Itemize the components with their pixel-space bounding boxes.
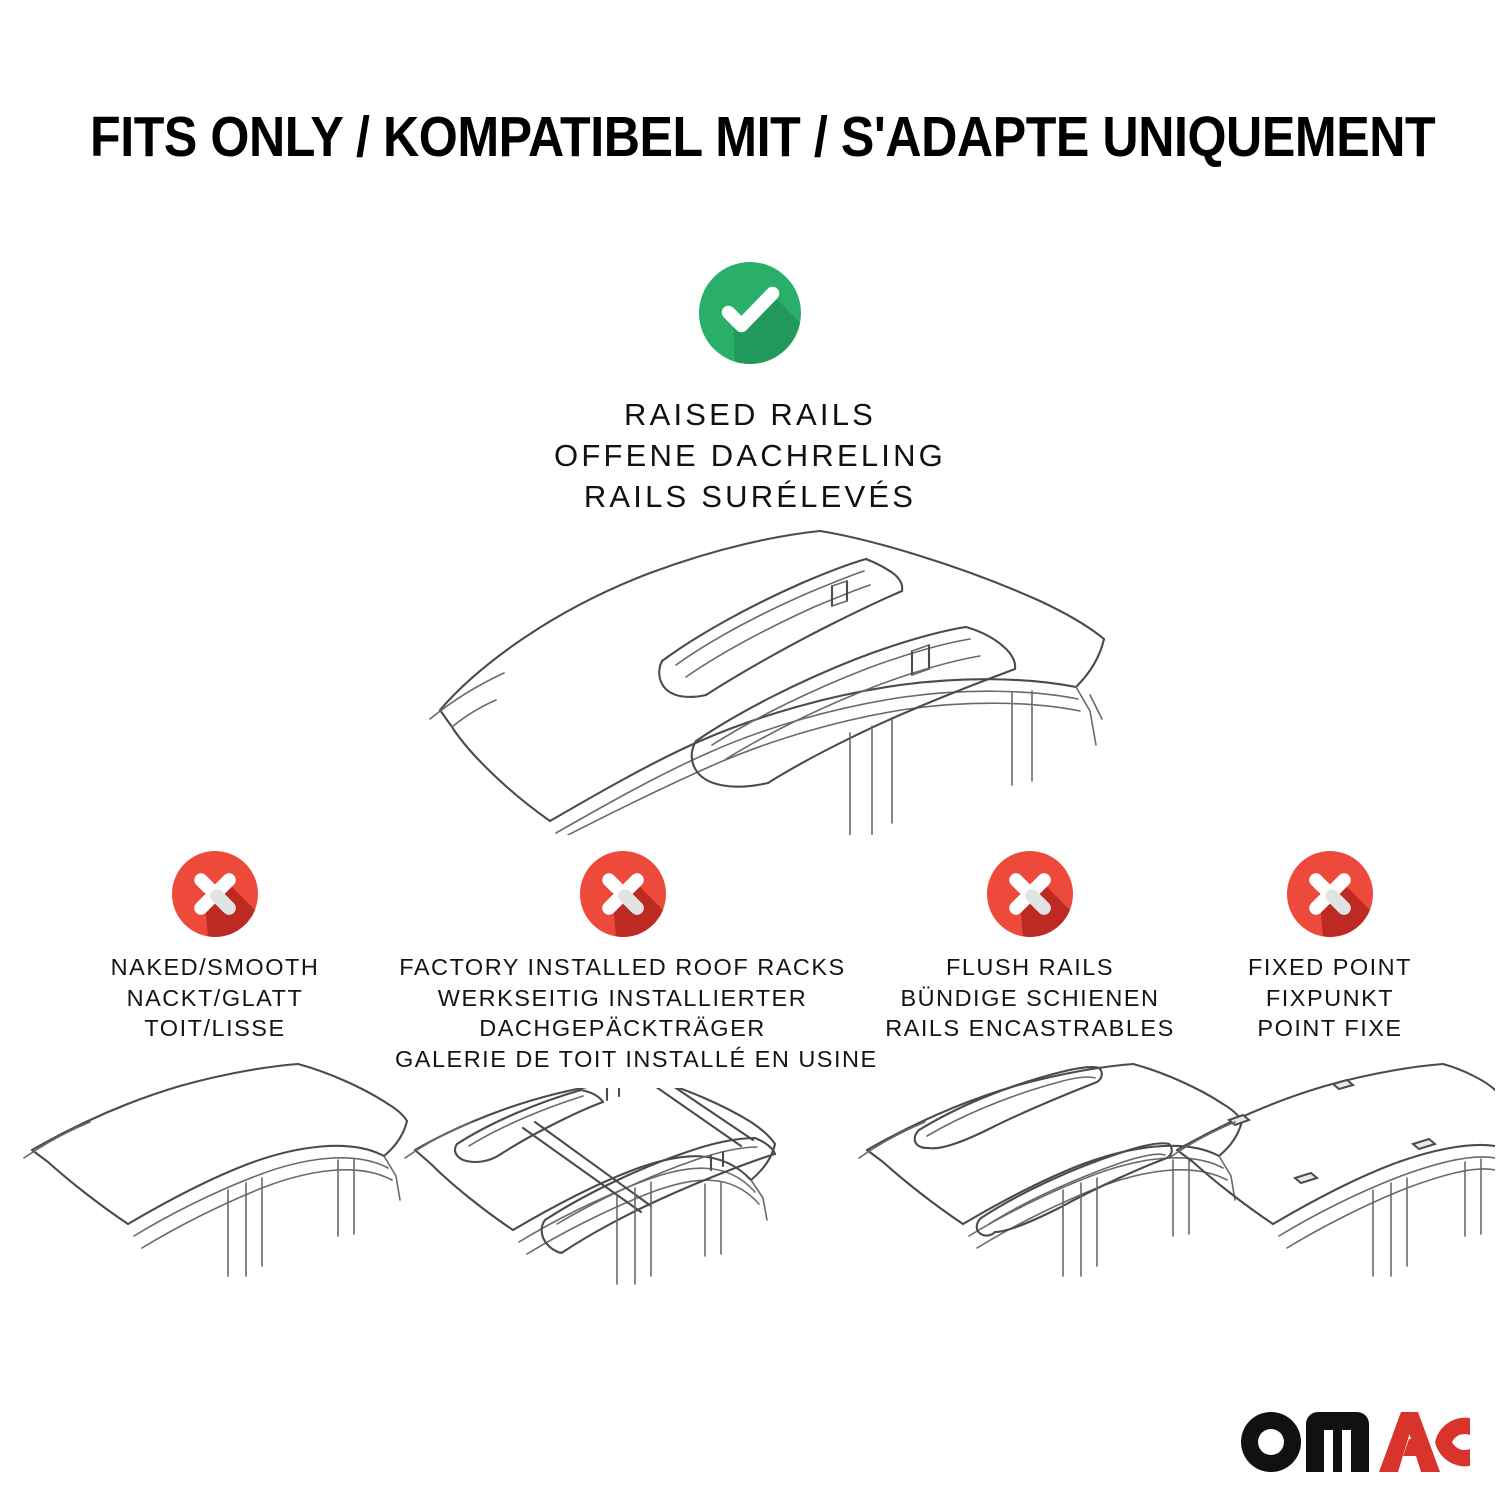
label-line-2: NACKT/GLATT xyxy=(20,983,410,1014)
label-line-2: FIXPUNKT xyxy=(1195,983,1465,1014)
compatible-label-en: RAISED RAILS xyxy=(0,395,1500,436)
car-roof-naked-smooth-diagram xyxy=(20,1058,410,1288)
label-line-2: WERKSEITIG INSTALLIERTER xyxy=(395,983,850,1014)
car-roof-flush-rails-diagram xyxy=(855,1058,1205,1288)
label-line-1: FACTORY INSTALLED ROOF RACKS xyxy=(395,952,850,983)
green-check-circle-icon xyxy=(695,258,805,368)
label-line-1: FIXED POINT xyxy=(1195,952,1465,983)
logo-letter-c xyxy=(1435,1418,1470,1467)
logo-letter-a xyxy=(1379,1412,1440,1472)
car-roof-raised-rails-diagram xyxy=(400,505,1120,835)
red-x-circle-icon xyxy=(984,848,1076,940)
compatible-labels: RAISED RAILS OFFENE DACHRELING RAILS SUR… xyxy=(0,395,1500,518)
label-line-1: FLUSH RAILS xyxy=(855,952,1205,983)
incompatible-labels: FLUSH RAILS BÜNDIGE SCHIENEN RAILS ENCAS… xyxy=(855,952,1205,1044)
label-line-3: TOIT/LISSE xyxy=(20,1013,410,1044)
red-x-circle-icon xyxy=(169,848,261,940)
red-x-circle-icon xyxy=(577,848,669,940)
page-title: FITS ONLY / KOMPATIBEL MIT / S'ADAPTE UN… xyxy=(90,104,1410,170)
incompatible-section: NAKED/SMOOTH NACKT/GLATT TOIT/LISSE xyxy=(0,848,1500,1328)
label-line-2: BÜNDIGE SCHIENEN xyxy=(855,983,1205,1014)
label-line-3: POINT FIXE xyxy=(1195,1013,1465,1044)
incompatible-labels: FIXED POINT FIXPUNKT POINT FIXE xyxy=(1195,952,1465,1044)
incompatible-labels: NAKED/SMOOTH NACKT/GLATT TOIT/LISSE xyxy=(20,952,410,1044)
label-line-1: NAKED/SMOOTH xyxy=(20,952,410,983)
red-x-circle-icon xyxy=(1284,848,1376,940)
car-roof-factory-racks-diagram xyxy=(395,1088,850,1288)
label-line-3: DACHGEPÄCKTRÄGER xyxy=(395,1013,850,1044)
omac-logo xyxy=(1238,1408,1470,1476)
incompatible-column-factory-racks: FACTORY INSTALLED ROOF RACKS WERKSEITIG … xyxy=(395,848,850,1288)
incompatible-labels: FACTORY INSTALLED ROOF RACKS WERKSEITIG … xyxy=(395,952,850,1074)
compatible-label-de: OFFENE DACHRELING xyxy=(0,436,1500,477)
incompatible-column-naked-smooth: NAKED/SMOOTH NACKT/GLATT TOIT/LISSE xyxy=(20,848,410,1288)
label-line-3: RAILS ENCASTRABLES xyxy=(855,1013,1205,1044)
car-roof-fixed-point-diagram xyxy=(1195,1058,1465,1288)
incompatible-column-fixed-point: FIXED POINT FIXPUNKT POINT FIXE xyxy=(1195,848,1465,1288)
incompatible-column-flush-rails: FLUSH RAILS BÜNDIGE SCHIENEN RAILS ENCAS… xyxy=(855,848,1205,1288)
logo-letter-m xyxy=(1306,1412,1369,1472)
logo-letter-o xyxy=(1241,1412,1301,1472)
label-line-4: GALERIE DE TOIT INSTALLÉ EN USINE xyxy=(395,1044,850,1075)
compatible-section: RAISED RAILS OFFENE DACHRELING RAILS SUR… xyxy=(0,258,1500,518)
